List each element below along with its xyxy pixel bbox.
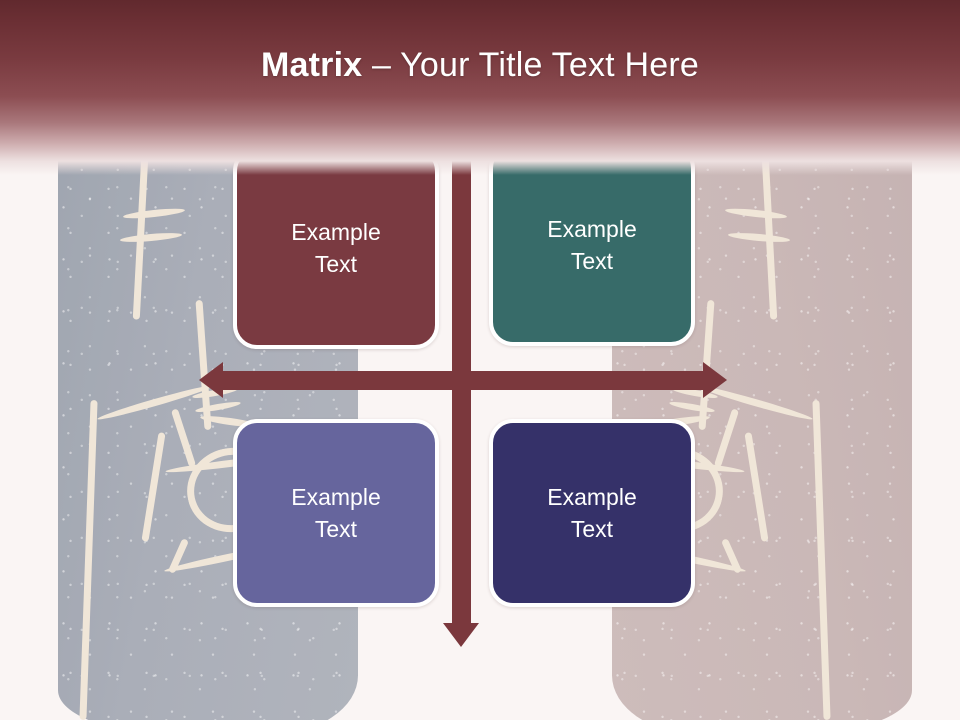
left-hand-grain — [58, 0, 358, 720]
quadrant-top-left-text: Example Text — [291, 216, 380, 280]
quadrant-top-right-text: Example Text — [547, 213, 636, 277]
slide-canvas: Example Text Example Text Example Text E… — [0, 0, 960, 720]
quadrant-bottom-left[interactable]: Example Text — [233, 419, 439, 607]
page-title-bold: Matrix — [261, 46, 362, 84]
quadrant-bottom-right[interactable]: Example Text — [489, 419, 695, 607]
quadrant-bottom-right-text: Example Text — [547, 481, 636, 545]
arrow-down-icon — [443, 623, 479, 647]
arrow-left-icon — [199, 362, 223, 398]
arrow-right-icon — [703, 362, 727, 398]
page-title: Matrix – Your Title Text Here — [0, 44, 960, 86]
page-title-rest: – Your Title Text Here — [362, 46, 699, 84]
horizontal-axis — [223, 371, 703, 390]
quadrant-top-right[interactable]: Example Text — [489, 144, 695, 346]
left-hand-shape — [58, 0, 358, 720]
background-photo — [0, 0, 960, 720]
quadrant-top-left[interactable]: Example Text — [233, 147, 439, 349]
quadrant-bottom-left-text: Example Text — [291, 481, 380, 545]
arrow-up-icon — [443, 118, 479, 142]
